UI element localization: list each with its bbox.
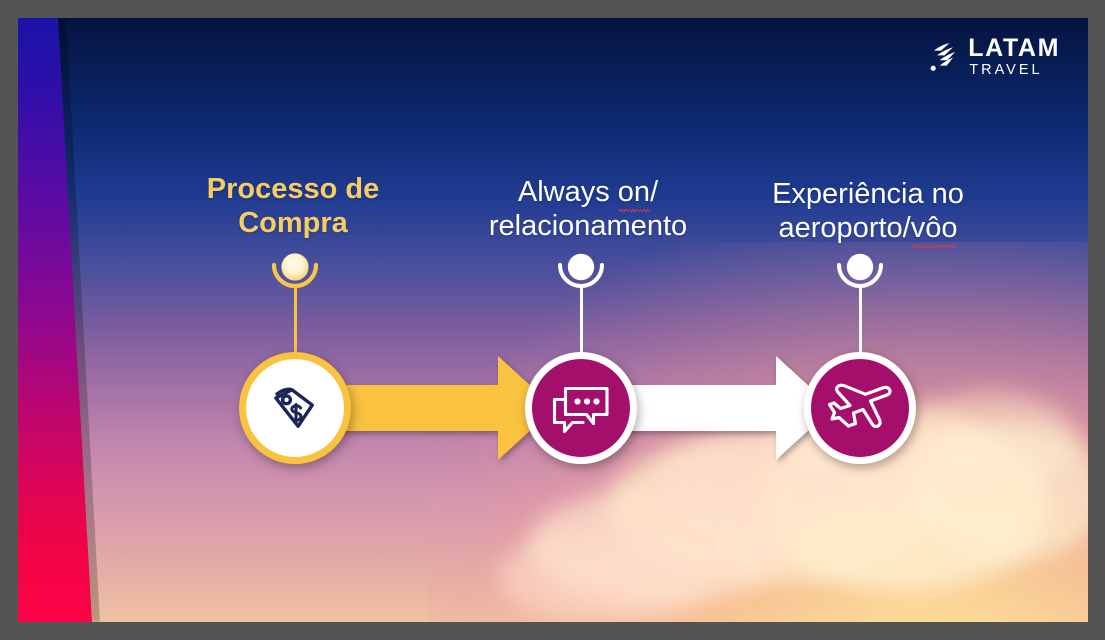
step-node-always-on-relacionamento[interactable] [525, 352, 637, 464]
step-title-text: / [650, 176, 658, 208]
misspelled-word-on: on [618, 176, 650, 210]
step-title-processo-de-compra: Processo de Compra [158, 173, 428, 241]
step-title-always-on-relacionamento: Always on/ relacionamento [443, 176, 733, 244]
step-title-experiencia-no-aeroporto-voo: Experiência no aeroporto/vôo [718, 178, 1018, 246]
step-node-experiencia-no-aeroporto-voo[interactable] [804, 352, 916, 464]
misspelled-word-voo: vôo [911, 212, 958, 246]
logo-sub-text: TRAVEL [969, 63, 1060, 78]
presentation-slide: LATAM TRAVEL Processo de Compra Always o… [18, 18, 1088, 622]
step-title-line: Processo de [158, 173, 428, 207]
step-title-text: Always [518, 176, 618, 208]
price-tag-dollar-icon [264, 377, 326, 439]
latam-travel-logo: LATAM TRAVEL [929, 36, 1060, 78]
latam-swoosh-icon [929, 41, 959, 73]
logo-wordmark: LATAM TRAVEL [968, 36, 1060, 78]
step-title-line: aeroporto/vôo [718, 212, 1018, 246]
step-title-line: relacionamento [443, 210, 733, 244]
step-node-processo-de-compra[interactable] [239, 352, 351, 464]
airplane-icon [827, 379, 893, 437]
logo-brand-text: LATAM [968, 36, 1060, 61]
chat-bubbles-icon [550, 379, 612, 437]
step-title-line: Always on/ [443, 176, 733, 210]
step-title-line: Experiência no [718, 178, 1018, 212]
step-title-line: Compra [158, 207, 428, 241]
sky-gradient-background [18, 18, 1088, 622]
screenshot-root: LATAM TRAVEL Processo de Compra Always o… [0, 0, 1105, 640]
step-title-text: aeroporto/ [779, 212, 911, 244]
